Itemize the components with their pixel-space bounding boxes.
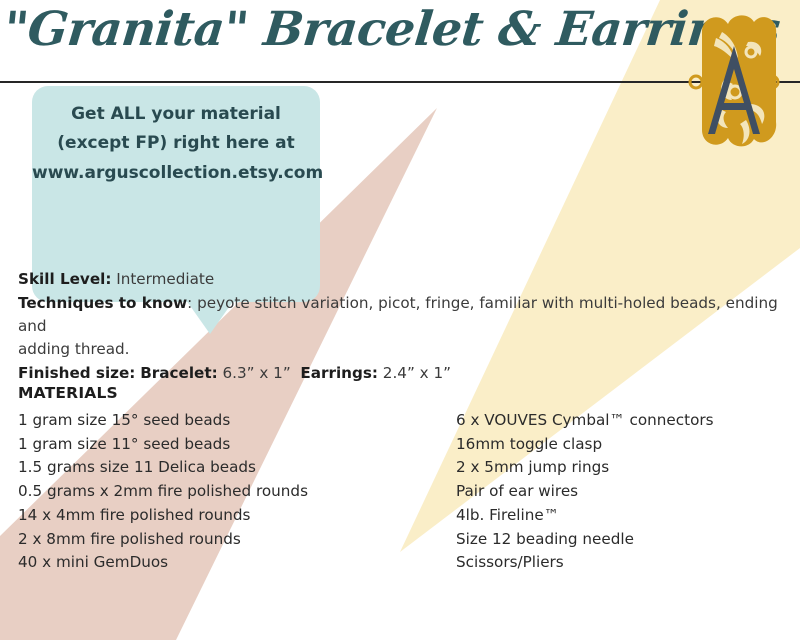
finished-size-row: Finished size: Bracelet: 6.3” x 1” Earri… <box>18 362 800 385</box>
finished-size-label: Finished size: <box>18 364 135 382</box>
page-title: "Granita" Bracelet & Earrings <box>2 6 727 53</box>
skill-level-label: Skill Level: <box>18 270 111 288</box>
list-item: Scissors/Pliers <box>456 551 796 575</box>
promo-bubble-line-2: (except FP) right here at <box>32 129 320 158</box>
list-item: 40 x mini GemDuos <box>18 551 448 575</box>
list-item: 1.5 grams size 11 Delica beads <box>18 456 448 480</box>
list-item: 0.5 grams x 2mm fire polished rounds <box>18 480 448 504</box>
list-item: 6 x VOUVES Cymbal™ connectors <box>456 409 796 433</box>
list-item: 1 gram size 11° seed beads <box>18 433 448 457</box>
header-band: "Granita" Bracelet & Earrings <box>0 0 800 84</box>
promo-bubble-text: Get ALL your material (except FP) right … <box>32 100 320 188</box>
techniques-row: Techniques to know: peyote stitch variat… <box>18 292 800 361</box>
logo-ring-left-icon <box>690 76 702 88</box>
materials-left-column: 1 gram size 15° seed beads 1 gram size 1… <box>18 409 448 575</box>
list-item: 2 x 8mm fire polished rounds <box>18 528 448 552</box>
techniques-label: Techniques to know <box>18 294 187 312</box>
techniques-value-line2: adding thread. <box>18 338 800 361</box>
argus-collection-monogram-logo-icon <box>688 8 780 158</box>
list-item: 4lb. Fireline™ <box>456 504 796 528</box>
materials-heading: MATERIALS <box>18 384 118 402</box>
promo-bubble-line-1: Get ALL your material <box>32 100 320 129</box>
list-item: Size 12 beading needle <box>456 528 796 552</box>
skill-level-value: Intermediate <box>116 270 214 288</box>
list-item: 16mm toggle clasp <box>456 433 796 457</box>
finished-bracelet-value: 6.3” x 1” <box>223 364 291 382</box>
pattern-info-block: Skill Level: Intermediate Techniques to … <box>18 268 800 386</box>
finished-earrings-value: 2.4” x 1” <box>383 364 451 382</box>
pattern-instruction-page: Get ALL your material (except FP) right … <box>0 0 800 640</box>
skill-level-row: Skill Level: Intermediate <box>18 268 800 291</box>
finished-bracelet-label: Bracelet: <box>140 364 217 382</box>
header-divider <box>0 81 800 83</box>
list-item: Pair of ear wires <box>456 480 796 504</box>
list-item: 14 x 4mm fire polished rounds <box>18 504 448 528</box>
list-item: 1 gram size 15° seed beads <box>18 409 448 433</box>
promo-bubble-line-3[interactable]: www.arguscollection.etsy.com <box>32 159 320 188</box>
finished-earrings-label: Earrings: <box>300 364 378 382</box>
list-item: 2 x 5mm jump rings <box>456 456 796 480</box>
materials-right-column: 6 x VOUVES Cymbal™ connectors 16mm toggl… <box>456 409 796 575</box>
